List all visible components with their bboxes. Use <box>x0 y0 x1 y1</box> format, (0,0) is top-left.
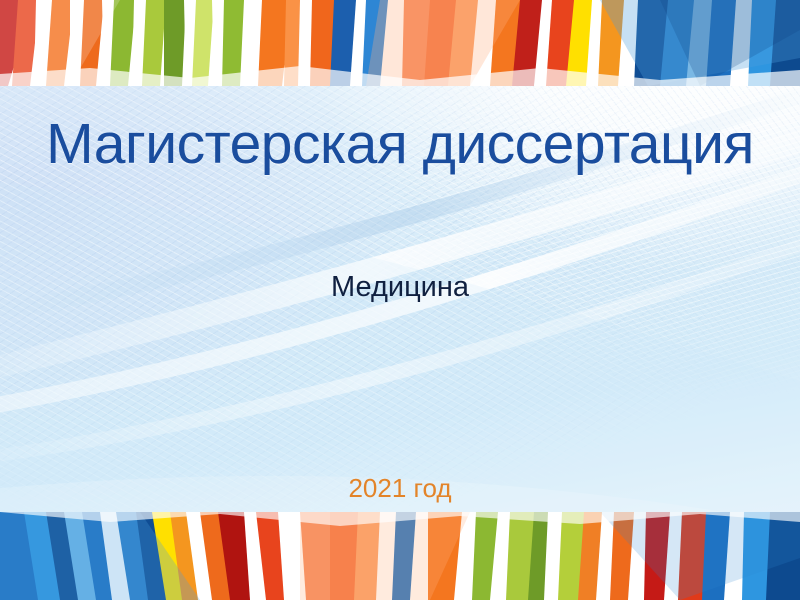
slide-year: 2021 год <box>0 473 800 503</box>
bottom-border-shards <box>0 512 800 600</box>
top-border-shards <box>0 0 800 86</box>
slide-title: Магистерская диссертация <box>0 112 800 176</box>
top-decorative-border <box>0 0 800 86</box>
slide-subtitle: Медицина <box>0 270 800 304</box>
bottom-decorative-border <box>0 512 800 600</box>
presentation-slide: Магистерская диссертация Медицина 2021 г… <box>0 0 800 600</box>
